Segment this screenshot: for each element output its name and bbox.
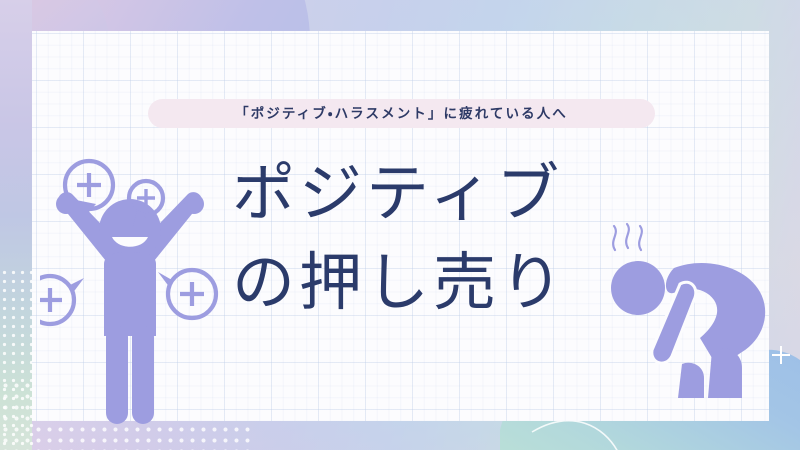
title-line-1: ポジティブ (232, 150, 632, 239)
page-title: ポジティブ の押し売り (232, 150, 632, 329)
subtitle-pill: 「ポジティブ・ハラスメント」に疲れている人へ (148, 99, 655, 128)
subtitle-text: 「ポジティブ・ハラスメント」に疲れている人へ (235, 107, 568, 121)
exhausted-person-illustration (596, 218, 776, 398)
tired-wavy-lines-icon (613, 224, 642, 250)
slide-canvas: 「ポジティブ・ハラスメント」に疲れている人へ ポジティブ の押し売り (0, 0, 800, 450)
cheerful-person-illustration (40, 140, 235, 430)
title-line-2: の押し売り (232, 239, 632, 328)
